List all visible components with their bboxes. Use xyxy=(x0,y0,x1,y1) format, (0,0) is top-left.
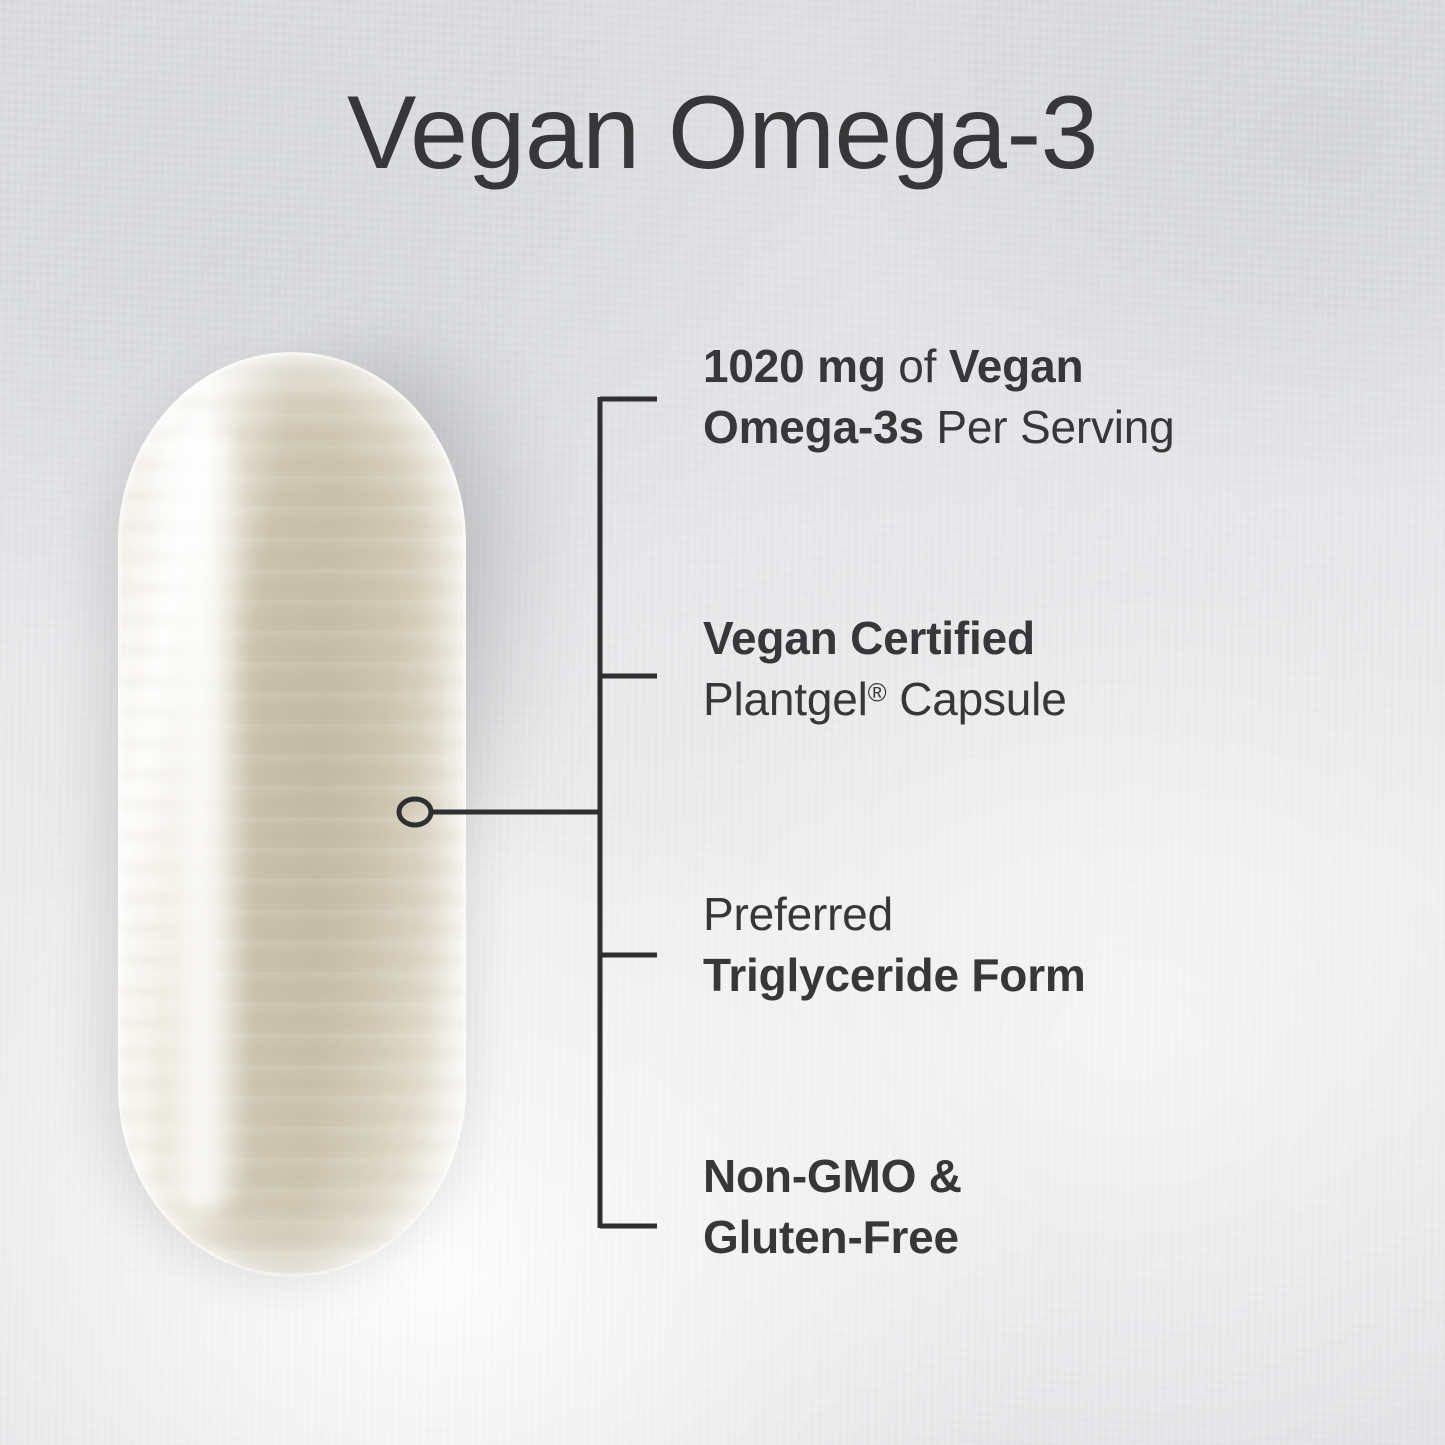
callout-vegan-certified-line-1: Vegan Certified xyxy=(703,608,1067,669)
vegan-certified-label: Vegan Certified xyxy=(703,612,1035,664)
dose-connector-word: of xyxy=(886,340,949,392)
callout-triglyceride-form: Preferred Triglyceride Form xyxy=(703,884,1086,1006)
callout-dose-line-2: Omega-3s Per Serving xyxy=(703,397,1175,458)
product-infographic: Vegan Omega-3 1020 mg of Vegan Omega-3s … xyxy=(0,0,1445,1445)
callout-triglyceride-line-2: Triglyceride Form xyxy=(703,945,1086,1006)
triglyceride-form-label: Triglyceride Form xyxy=(703,949,1086,1001)
dose-vegan-word: Vegan xyxy=(949,340,1084,392)
preferred-word: Preferred xyxy=(703,888,893,940)
callout-dose: 1020 mg of Vegan Omega-3s Per Serving xyxy=(703,336,1175,458)
callout-non-gmo-gluten-free: Non-GMO & Gluten-Free xyxy=(703,1146,962,1268)
dose-per-serving: Per Serving xyxy=(924,401,1175,453)
dose-amount: 1020 mg xyxy=(703,340,886,392)
registered-trademark-icon: ® xyxy=(868,680,887,708)
capsule-word: Capsule xyxy=(887,673,1067,725)
callout-non-gmo-line-2: Gluten-Free xyxy=(703,1207,962,1268)
callout-dose-line-1: 1020 mg of Vegan xyxy=(703,336,1175,397)
gluten-free-label: Gluten-Free xyxy=(703,1211,959,1263)
callout-triglyceride-line-1: Preferred xyxy=(703,884,1086,945)
non-gmo-label: Non-GMO & xyxy=(703,1150,962,1202)
dose-omega-word: Omega-3s xyxy=(703,401,924,453)
plantgel-brand: Plantgel xyxy=(703,673,868,725)
callout-vegan-certified-line-2: Plantgel® Capsule xyxy=(703,669,1067,730)
capsule-marker-ring xyxy=(399,799,431,825)
callout-non-gmo-line-1: Non-GMO & xyxy=(703,1146,962,1207)
callout-vegan-certified: Vegan Certified Plantgel® Capsule xyxy=(703,608,1067,730)
